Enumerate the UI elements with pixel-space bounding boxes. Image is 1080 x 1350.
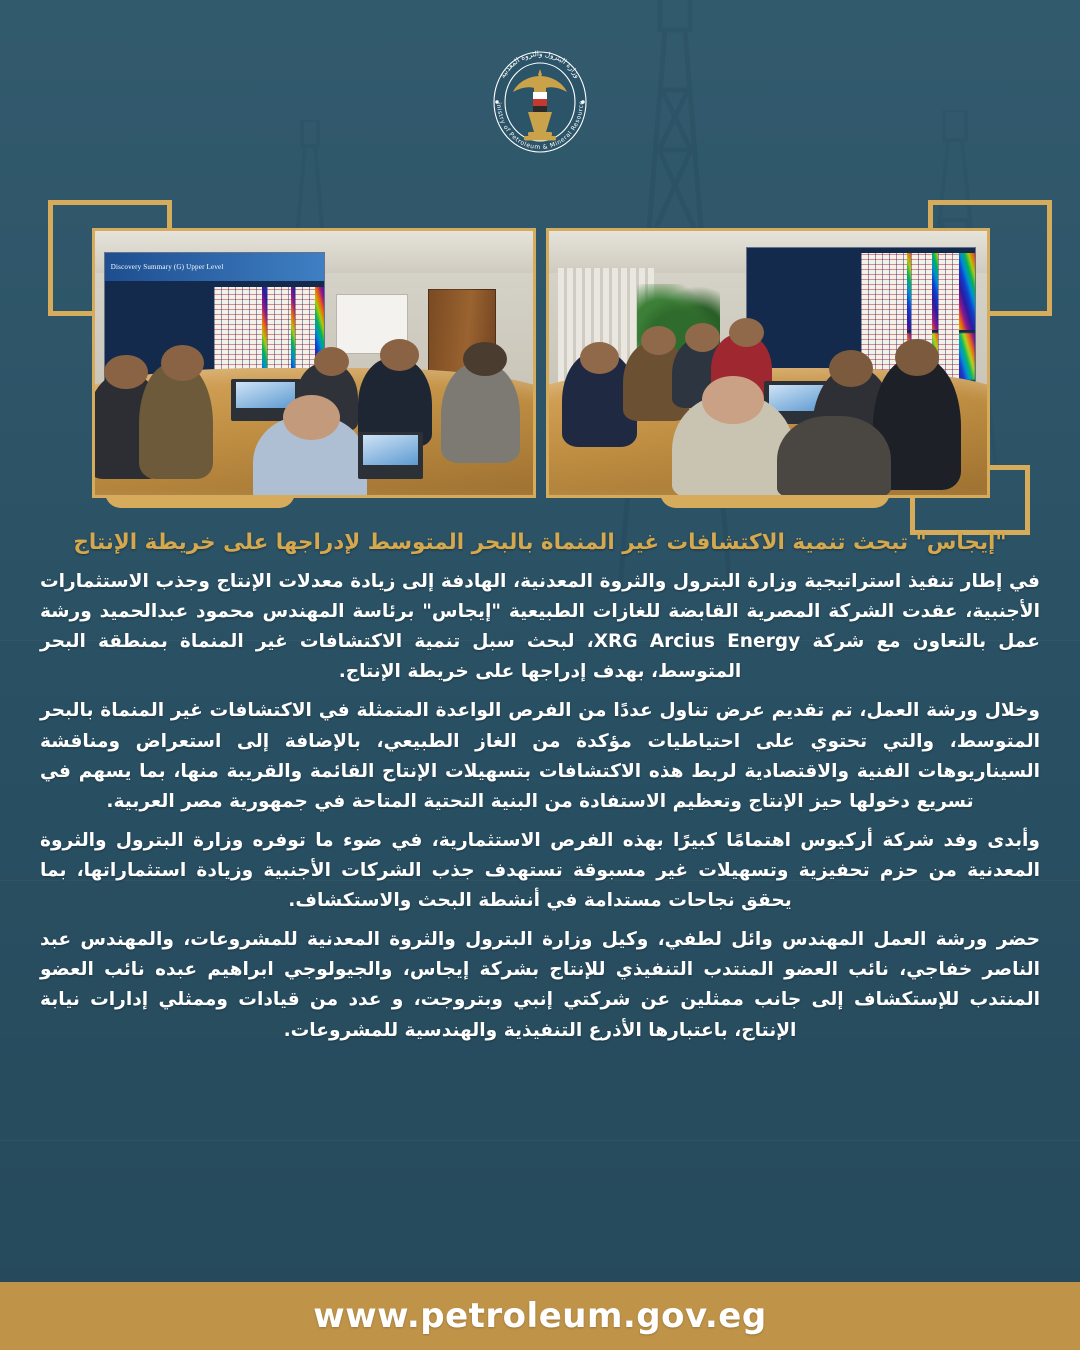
paragraph-1: في إطار تنفيذ استراتيجية وزارة البترول و…: [40, 567, 1040, 687]
article-body: "إيجاس" تبحث تنمية الاكتشافات غير المنما…: [40, 528, 1040, 1046]
workshop-meeting-photo-left: [546, 228, 990, 498]
paragraph-2: وخلال ورشة العمل، تم تقديم عرض تناول عدد…: [40, 696, 1040, 816]
photo-collage: Discovery Summary (G) Upper Level: [92, 228, 990, 498]
paragraph-3: وأبدى وفد شركة أركيوس اهتمامًا كبيرًا به…: [40, 826, 1040, 916]
footer-band: www.petroleum.gov.eg: [0, 1282, 1080, 1350]
social-media-announcement-card: وزارة البترول والثروة المعدنية Ministry …: [0, 0, 1080, 1350]
paragraph-4: حضر ورشة العمل المهندس وائل لطفي، وكيل و…: [40, 925, 1040, 1045]
slide-title: Discovery Summary (G) Upper Level: [105, 253, 324, 281]
workshop-meeting-photo-right: Discovery Summary (G) Upper Level: [92, 228, 536, 498]
page-title: "إيجاس" تبحث تنمية الاكتشافات غير المنما…: [40, 528, 1040, 557]
website-url[interactable]: www.petroleum.gov.eg: [313, 1296, 766, 1336]
ministry-logo: وزارة البترول والثروة المعدنية Ministry …: [484, 36, 596, 166]
